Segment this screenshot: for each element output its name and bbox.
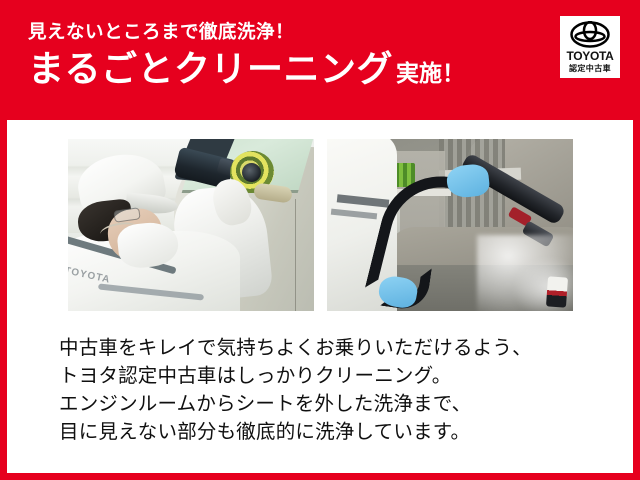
logo-brand-text: TOYOTA (560, 49, 620, 63)
logo-sub-text: 認定中古車 (560, 63, 620, 74)
body-copy-line-3: エンジンルームからシートを外した洗浄まで、 (59, 390, 579, 418)
header-band: 見えないところまで徹底洗浄！ まるごとクリーニング 実施！ TOYOT (0, 0, 640, 113)
content-surface: TOYOTA (7, 120, 633, 473)
photo-row: TOYOTA (68, 139, 574, 311)
header-tagline: 見えないところまで徹底洗浄！ (28, 22, 465, 42)
header-title-suffix: 実施！ (396, 62, 465, 85)
logo-white-plate: TOYOTA 認定中古車 (560, 16, 620, 78)
logo-chevron-ribbon (560, 78, 620, 95)
photo-interior-steam-cleaning (327, 139, 573, 311)
content-frame: TOYOTA (0, 113, 640, 480)
body-copy: 中古車をキレイで気持ちよくお乗りいただけるよう、 トヨタ認定中古車はしっかりクリ… (59, 334, 579, 446)
promo-banner: 見えないところまで徹底洗浄！ まるごとクリーニング 実施！ TOYOT (0, 0, 640, 480)
header-title-main: まるごとクリーニング (28, 51, 393, 87)
body-copy-line-1: 中古車をキレイで気持ちよくお乗りいただけるよう、 (59, 334, 579, 362)
body-copy-line-2: トヨタ認定中古車はしっかりクリーニング。 (59, 362, 579, 390)
header-title: まるごとクリーニング 実施！ (28, 51, 465, 87)
toyota-certified-logo: TOYOTA 認定中古車 (557, 13, 623, 95)
body-copy-line-4: 目に見えない部分も徹底的に洗浄しています。 (59, 418, 579, 446)
header-text-block: 見えないところまで徹底洗浄！ まるごとクリーニング 実施！ (28, 22, 465, 87)
photo-exterior-polishing: TOYOTA (68, 139, 314, 311)
